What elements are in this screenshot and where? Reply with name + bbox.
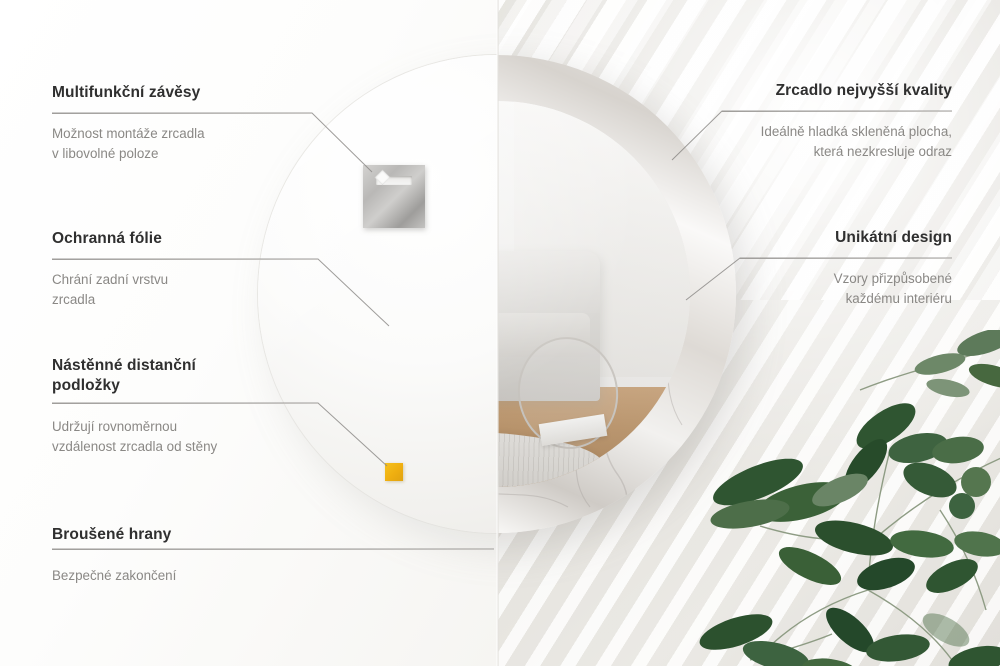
feature-title: Broušené hrany <box>52 525 352 545</box>
feature-block-ochranna-folie: Ochranná fólie Chrání zadní vrstvu zrcad… <box>52 229 352 310</box>
feature-description-line-2: zrcadla <box>52 290 352 310</box>
feature-description-line-1: Možnost montáže zrcadla <box>52 124 352 144</box>
feature-rule <box>52 405 352 406</box>
feature-description-line-2: každému interiéru <box>652 289 952 309</box>
feature-title-line-1: Nástěnné distanční <box>52 356 352 376</box>
feature-description-line-1: Chrání zadní vrstvu <box>52 270 352 290</box>
feature-description-line-2: vzdálenost zrcadla od stěny <box>52 437 352 457</box>
feature-title: Ochranná fólie <box>52 229 352 249</box>
feature-description-line-1: Vzory přizpůsobené <box>652 269 952 289</box>
feature-description-line-1: Udržují rovnoměrnou <box>52 417 352 437</box>
feature-description-line-1: Bezpečné zakončení <box>52 566 352 586</box>
infographic-canvas: Multifunkční závěsy Možnost montáže zrca… <box>0 0 1000 666</box>
feature-title-line-2: podložky <box>52 376 352 396</box>
feature-description-line-2: která nezkresluje odraz <box>652 142 952 162</box>
rule-zrcadlo-kvality <box>722 111 952 112</box>
feature-title: Multifunkční závěsy <box>52 83 352 103</box>
rule-unikatni-design <box>740 258 952 259</box>
feature-block-nastenne-distancni-podlozky: Nástěnné distanční podložky Udržují rovn… <box>52 356 352 457</box>
feature-title: Zrcadlo nejvyšší kvality <box>652 81 952 101</box>
feature-description-line-2: v libovolné poloze <box>52 144 352 164</box>
rule-ochranna-folie <box>52 259 318 260</box>
feature-block-multifunkcni-zavesy: Multifunkční závěsy Možnost montáže zrca… <box>52 83 352 164</box>
plant-foliage-decoration <box>690 330 1000 666</box>
rule-multifunkcni-zavesy <box>52 113 312 114</box>
feature-block-zrcadlo-nejvyssi-kvality: Zrcadlo nejvyšší kvality Ideálně hladká … <box>652 81 952 162</box>
rule-nastenne-podlozky <box>52 403 318 404</box>
feature-title: Unikátní design <box>652 228 952 248</box>
feature-block-unikatni-design: Unikátní design Vzory přizpůsobené každé… <box>652 228 952 309</box>
feature-description-line-1: Ideálně hladká skleněná plocha, <box>652 122 952 142</box>
feature-block-brousene-hrany: Broušené hrany Bezpečné zakončení <box>52 525 352 586</box>
rule-brousene-hrany <box>52 549 494 550</box>
feature-rule <box>52 554 352 555</box>
